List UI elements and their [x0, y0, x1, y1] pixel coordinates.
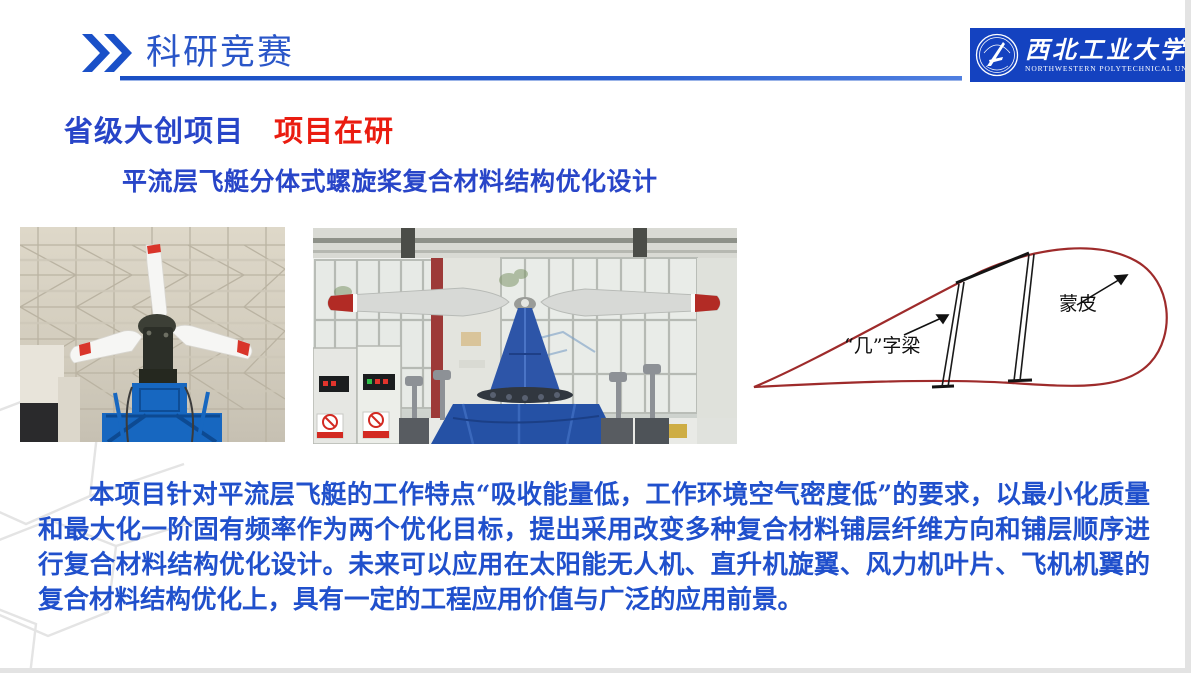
project-status-badge: 项目在研	[274, 114, 394, 148]
label-skin: 蒙皮	[1059, 289, 1097, 316]
university-seal-icon	[975, 33, 1019, 77]
photo-propeller-3blade	[20, 227, 285, 442]
header-divider-rule-thin	[120, 80, 962, 81]
project-heading: 省级大创项目 项目在研	[64, 108, 394, 150]
label-spar: “几”字梁	[844, 331, 920, 358]
project-subtitle: 平流层飞艇分体式螺旋桨复合材料结构优化设计	[122, 162, 658, 198]
university-logo-badge: 西北工业大学 NORTHWESTERN POLYTECHNICAL UNIVER…	[970, 28, 1185, 82]
photo-propeller-2blade	[313, 228, 737, 444]
double-chevron-right-icon	[80, 30, 132, 76]
logo-text-block: 西北工业大学 NORTHWESTERN POLYTECHNICAL UNIVER…	[1025, 37, 1191, 73]
page-title: 科研竞赛	[146, 24, 294, 75]
logo-name-cn: 西北工业大学	[1025, 37, 1191, 62]
airfoil-cross-section-diagram	[752, 235, 1182, 450]
logo-name-en: NORTHWESTERN POLYTECHNICAL UNIVERSITY	[1025, 64, 1191, 73]
slide-canvas: 科研竞赛 西北工业大学 NORTHWESTERN POLYTECHNICAL U…	[0, 0, 1191, 673]
project-description: 本项目针对平流层飞艇的工作特点“吸收能量低，工作环境空气密度低”的要求，以最小化…	[38, 478, 1150, 618]
project-category-label: 省级大创项目	[64, 114, 244, 148]
